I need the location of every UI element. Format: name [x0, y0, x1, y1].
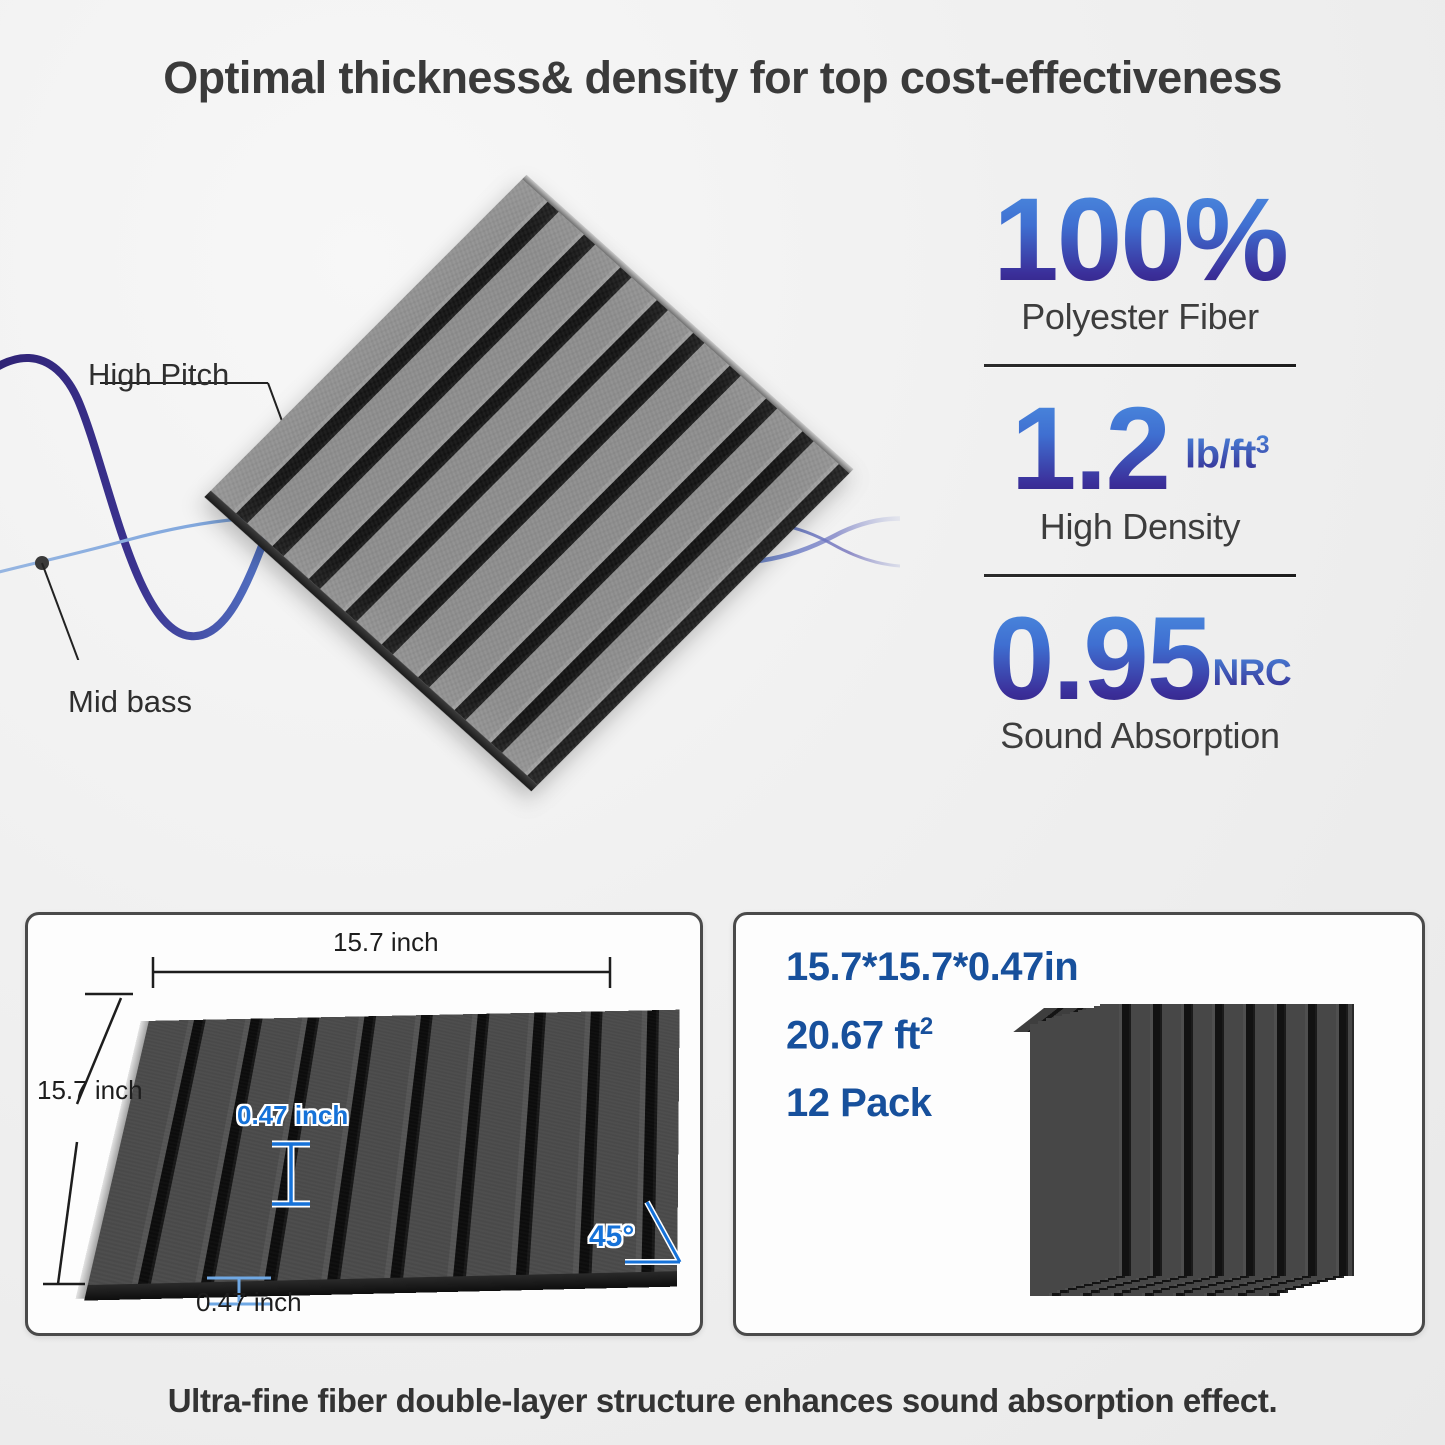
stat-caption-nrc: Sound Absorption — [900, 715, 1380, 757]
stat-unit-nrc: NRC — [1213, 652, 1292, 694]
dimension-label-thickness: 0.47 inch — [237, 1100, 348, 1131]
stat-unit-density: lb/ft3 — [1185, 432, 1269, 477]
stat-caption-polyester: Polyester Fiber — [900, 296, 1380, 338]
pack-label-area: 20.67 ft2 — [786, 1013, 933, 1058]
hero-acoustic-panel-image — [211, 179, 850, 785]
stat-value-nrc: 0.95 — [989, 599, 1211, 719]
stat-divider-1 — [984, 364, 1296, 367]
stat-high-density: 1.2lb/ft3 High Density — [900, 389, 1380, 547]
footer-caption: Ultra-fine fiber double-layer structure … — [0, 1382, 1445, 1420]
dimension-guides — [25, 912, 697, 1330]
stat-caption-density: High Density — [900, 506, 1380, 548]
panel-slat-face — [211, 179, 850, 785]
panel-texture — [211, 179, 850, 785]
pack-label-area-text: 20.67 ft — [786, 1013, 920, 1057]
pack-label-area-sup: 2 — [920, 1013, 933, 1040]
dimension-label-slat-width: 0.47 inch — [196, 1287, 302, 1318]
stat-unit-density-text: lb/ft — [1185, 432, 1256, 476]
stat-value-density: 1.2 — [1011, 389, 1169, 509]
dimension-label-angle: 45° — [589, 1220, 634, 1254]
dimension-label-width: 15.7 inch — [333, 927, 439, 958]
pack-sheet-front — [1100, 1004, 1354, 1276]
page-title: Optimal thickness& density for top cost-… — [0, 52, 1445, 104]
dimension-label-height: 15.7 inch — [37, 1075, 143, 1106]
pack-label-quantity: 12 Pack — [786, 1081, 932, 1126]
spec-stats-column: 100% Polyester Fiber 1.2lb/ft3 High Dens… — [900, 180, 1380, 757]
wave-label-mid-bass: Mid bass — [68, 684, 192, 720]
stat-polyester-fiber: 100% Polyester Fiber — [900, 180, 1380, 338]
infographic-root: Optimal thickness& density for top cost-… — [0, 0, 1445, 1445]
pack-label-dimensions: 15.7*15.7*0.47in — [786, 945, 1078, 990]
stacked-panels-image — [1030, 1008, 1348, 1296]
stat-sound-absorption: 0.95NRC Sound Absorption — [900, 599, 1380, 757]
stat-divider-2 — [984, 574, 1296, 577]
stat-unit-density-sup: 3 — [1256, 432, 1269, 459]
wave-label-high-pitch: High Pitch — [88, 357, 229, 393]
stat-value-polyester: 100% — [993, 180, 1287, 300]
